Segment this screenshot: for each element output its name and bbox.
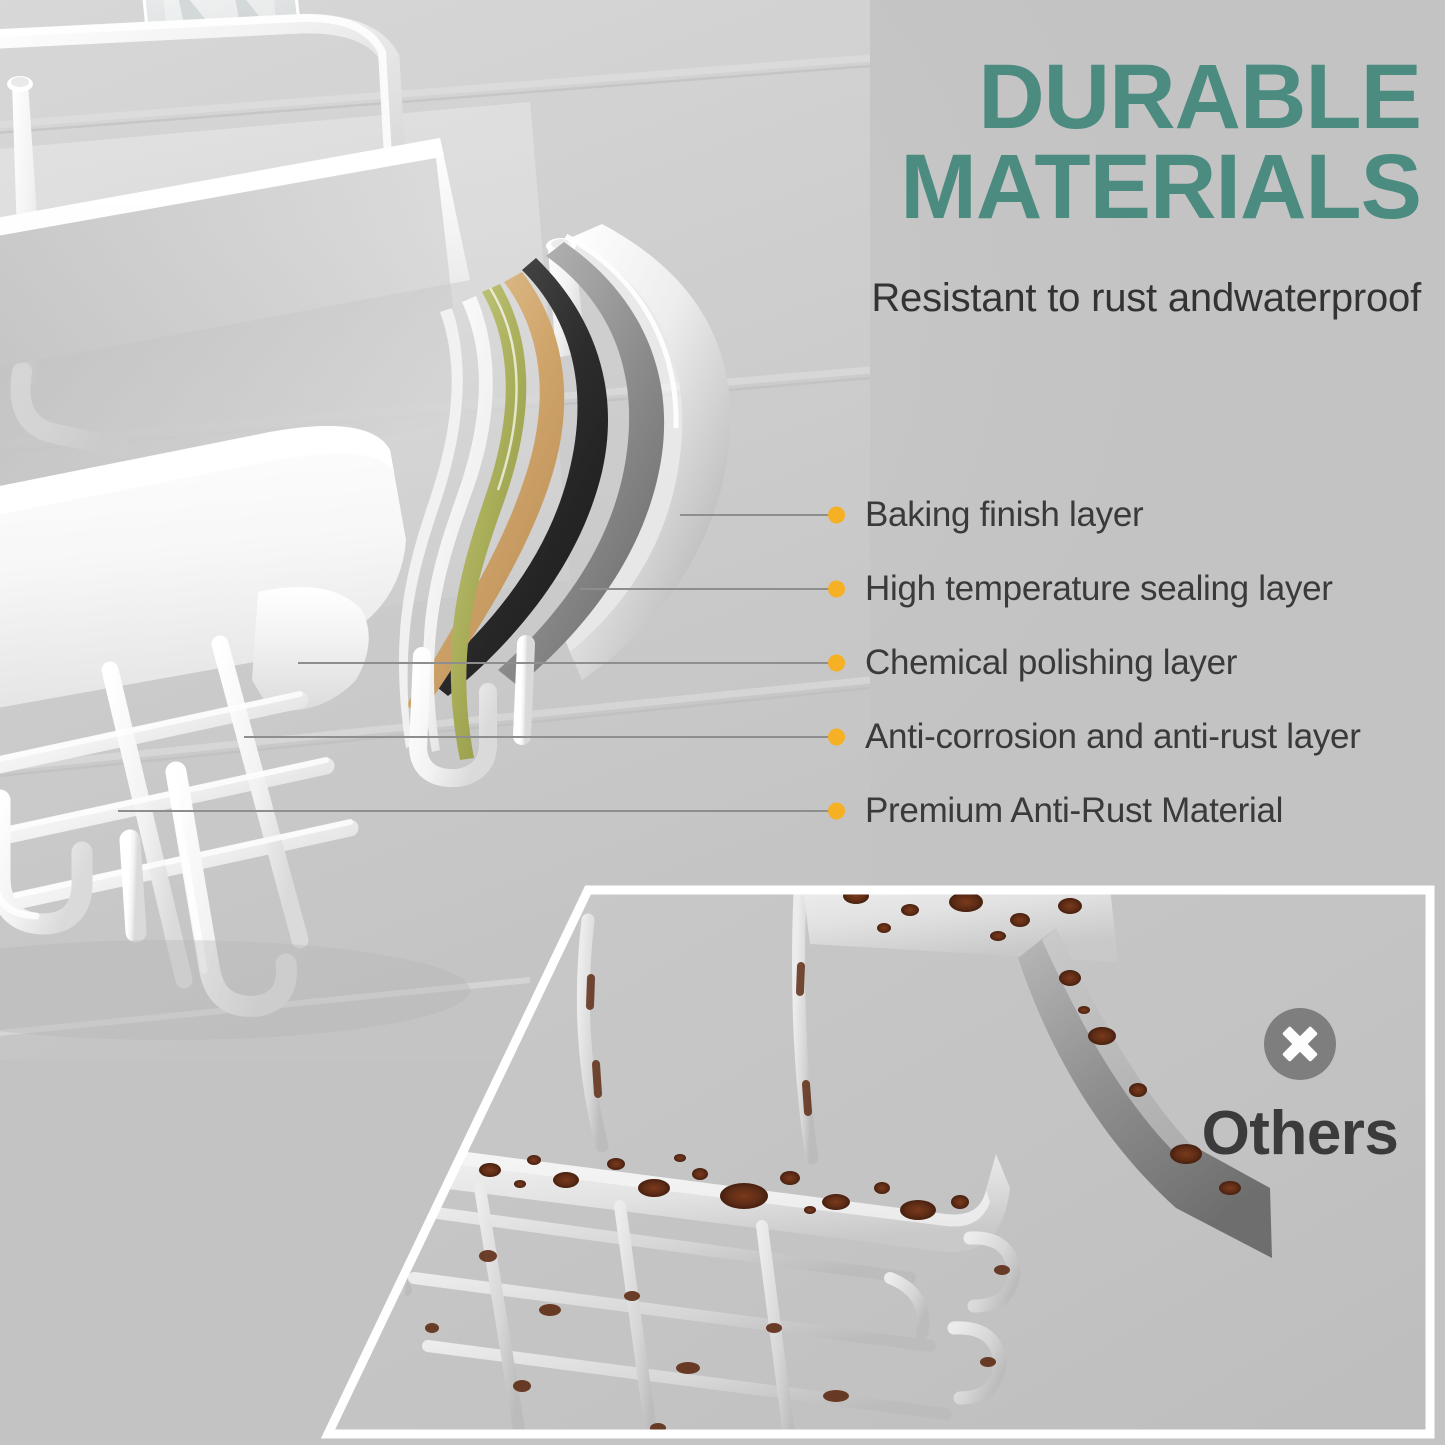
- leader-line: [580, 588, 834, 590]
- callout-label: Chemical polishing layer: [865, 643, 1237, 683]
- leader-line: [118, 810, 834, 812]
- leader-line: [244, 736, 834, 738]
- comparison-inset: Others: [310, 878, 1445, 1445]
- bullet-dot-icon: [828, 803, 845, 820]
- callout-item: High temperature sealing layer: [700, 552, 1445, 626]
- headline-line-2: MATERIALS: [601, 142, 1421, 232]
- x-mark-icon: [1264, 1008, 1336, 1080]
- infographic-page: DURABLE MATERIALS Resistant to rust andw…: [0, 0, 1445, 1445]
- callout-item: Baking finish layer: [700, 478, 1445, 552]
- callout-item: Chemical polishing layer: [700, 626, 1445, 700]
- page-title: DURABLE MATERIALS: [601, 52, 1421, 232]
- bullet-dot-icon: [828, 655, 845, 672]
- callout-item: Premium Anti-Rust Material: [700, 774, 1445, 848]
- callout-label: Premium Anti-Rust Material: [865, 791, 1283, 831]
- others-badge-group: Others: [1190, 1008, 1410, 1169]
- others-label: Others: [1190, 1098, 1410, 1169]
- leader-line: [298, 662, 834, 664]
- callout-label: High temperature sealing layer: [865, 569, 1333, 609]
- callout-item: Anti-corrosion and anti-rust layer: [700, 700, 1445, 774]
- callout-label: Anti-corrosion and anti-rust layer: [865, 717, 1361, 757]
- layer-callout-list: Baking finish layer High temperature sea…: [700, 478, 1445, 848]
- bullet-dot-icon: [828, 507, 845, 524]
- bullet-dot-icon: [828, 581, 845, 598]
- headline-line-1: DURABLE: [978, 46, 1421, 148]
- leader-line: [680, 514, 834, 516]
- page-subtitle: Resistant to rust andwaterproof: [561, 276, 1421, 321]
- bullet-dot-icon: [828, 729, 845, 746]
- callout-label: Baking finish layer: [865, 495, 1143, 535]
